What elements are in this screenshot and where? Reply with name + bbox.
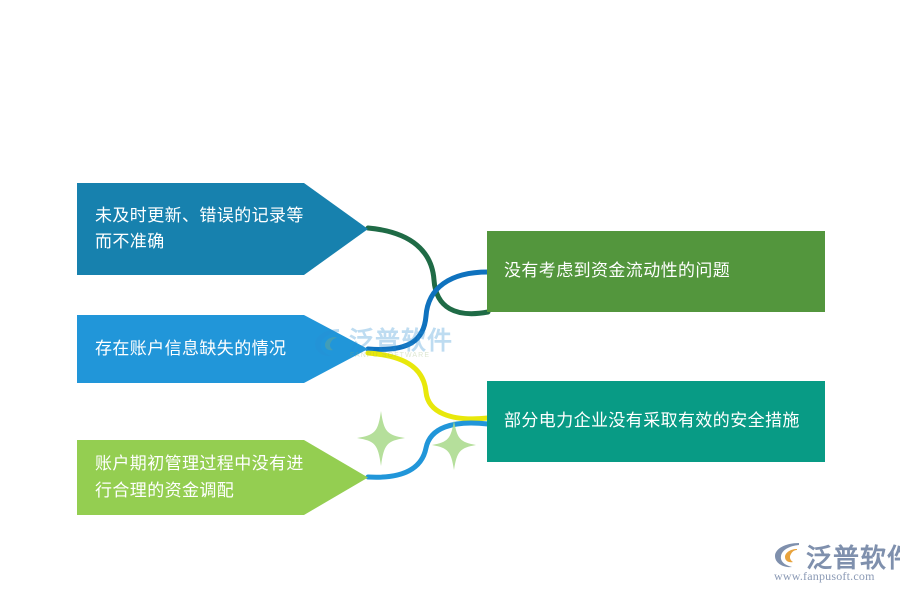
connector-light-blue-path [368, 423, 488, 477]
watermark-subtext: FANPU SOFTWARE [350, 352, 430, 359]
result-box-2-label: 部分电力企业没有采取有效的安全措施 [487, 408, 825, 434]
sparkle-right-icon [432, 420, 476, 470]
result-box-1-label: 没有考虑到资金流动性的问题 [487, 258, 825, 284]
problem-chevron-2-label: 存在账户信息缺失的情况 [77, 336, 368, 362]
problem-chevron-1[interactable]: 未及时更新、错误的记录等而不准确 [77, 183, 368, 275]
watermark-text: 泛普软件 [349, 321, 453, 357]
result-box-2[interactable]: 部分电力企业没有采取有效的安全措施 [487, 381, 825, 462]
problem-chevron-3[interactable]: 账户期初管理过程中没有进行合理的资金调配 [77, 440, 368, 515]
connector-yellow-path [368, 353, 488, 419]
brand-logo-icon [772, 540, 806, 570]
result-box-1[interactable]: 没有考虑到资金流动性的问题 [487, 231, 825, 312]
brand-logo: 泛普软件 www.fanpusoft.com [772, 540, 890, 588]
connector-dark-green-path [368, 228, 488, 314]
connector-blue-path [368, 272, 488, 349]
diagram-canvas: 未及时更新、错误的记录等而不准确 存在账户信息缺失的情况 账户期初管理过程中没有… [0, 0, 900, 600]
problem-chevron-1-label: 未及时更新、错误的记录等而不准确 [77, 203, 368, 256]
sparkle-left-icon [357, 411, 405, 466]
problem-chevron-3-label: 账户期初管理过程中没有进行合理的资金调配 [77, 451, 368, 504]
problem-chevron-2[interactable]: 存在账户信息缺失的情况 [77, 315, 368, 383]
brand-logo-url: www.fanpusoft.com [774, 569, 875, 584]
